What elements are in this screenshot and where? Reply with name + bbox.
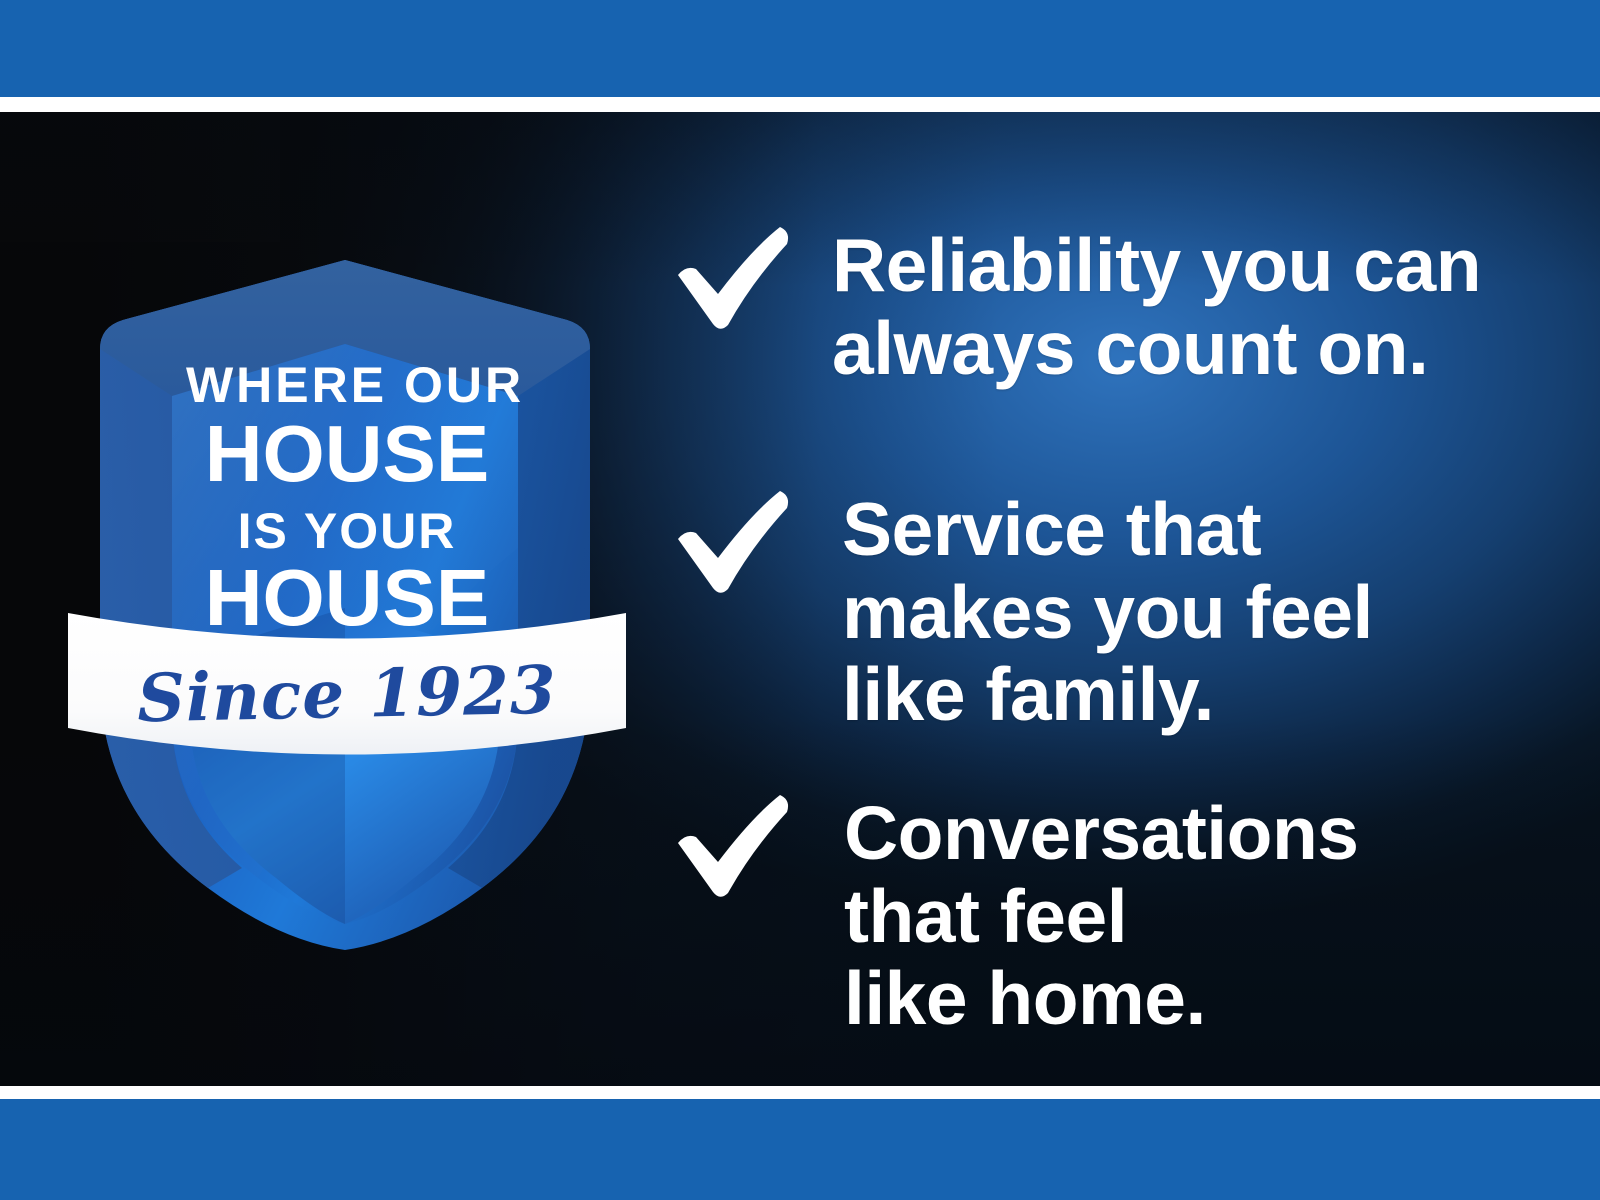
logo-line-house-2: HOUSE [62,558,632,638]
list-item: Conversations that feel like home. [660,784,1358,1040]
check-icon [660,482,800,602]
logo-line-where-our: WHERE OUR [62,360,640,410]
shield-logo: WHERE OUR HOUSE IS YOUR HOUSE Since 1923 [62,248,632,960]
bottom-white-divider [0,1086,1600,1099]
top-white-divider [0,97,1600,112]
check-icon [660,786,800,906]
logo-ribbon-since-text: Since 1923 [61,655,632,733]
top-brand-bar [0,0,1600,97]
list-item: Service that makes you feel like family. [660,480,1373,736]
promo-graphic: WHERE OUR HOUSE IS YOUR HOUSE Since 1923… [0,0,1600,1200]
logo-line-house-1: HOUSE [62,414,632,494]
logo-line-is-your: IS YOUR [62,506,632,556]
bottom-brand-bar [0,1099,1600,1200]
list-item-text: Service that makes you feel like family. [842,488,1373,736]
list-item-text: Conversations that feel like home. [844,792,1358,1040]
benefits-list: Reliability you can always count on. Ser… [660,112,1560,1086]
check-icon [660,218,800,338]
list-item: Reliability you can always count on. [660,216,1481,389]
list-item-text: Reliability you can always count on. [832,224,1481,389]
